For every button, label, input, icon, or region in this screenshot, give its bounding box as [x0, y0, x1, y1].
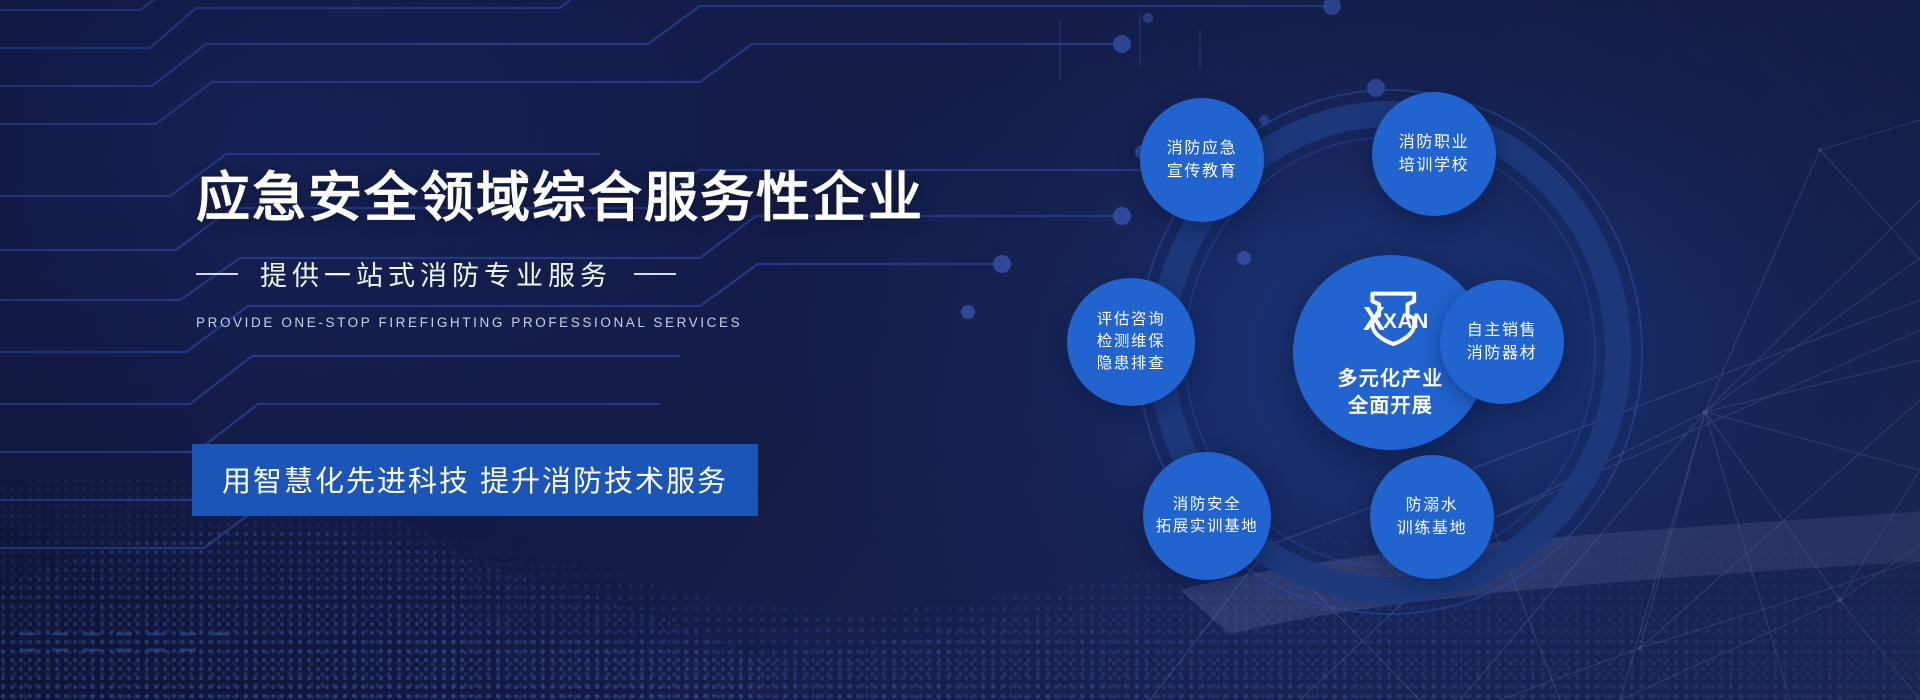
node-label-line-2: 宣传教育 [1167, 160, 1237, 183]
diagram-node-left[interactable]: 评估咨询 检测维保 隐患排查 [1067, 278, 1195, 406]
node-label-line-1: 自主销售 [1467, 319, 1537, 342]
node-label-line-2: 拓展实训基地 [1156, 516, 1259, 538]
cta-banner-label: 用智慧化先进科技 提升消防技术服务 [222, 466, 728, 498]
node-label-line-1: 消防职业 [1399, 131, 1469, 154]
subtitle-row: 提供一站式消防专业服务 [196, 254, 896, 293]
page-title: 应急安全领域综合服务性企业 [196, 168, 896, 228]
node-label-line-2: 消防器材 [1467, 342, 1537, 365]
rule-left-decoration [196, 273, 238, 275]
node-label-line-2: 培训学校 [1399, 154, 1469, 177]
logo-wordmark: XAN [1383, 310, 1428, 333]
xan-shield-logo: X XAN [1354, 286, 1428, 357]
node-label-line-2: 检测维保 [1097, 331, 1165, 353]
center-label-line-1: 多元化产业 [1338, 366, 1444, 393]
diagram-node-top-left[interactable]: 消防应急 宣传教育 [1140, 98, 1264, 222]
diagram-node-right[interactable]: 自主销售 消防器材 [1440, 280, 1564, 404]
cta-banner-button[interactable]: 用智慧化先进科技 提升消防技术服务 [192, 444, 758, 516]
center-label-line-2: 全面开展 [1348, 393, 1433, 420]
shield-icon: X XAN [1354, 286, 1428, 352]
diagram-node-bottom-right[interactable]: 防溺水 训练基地 [1370, 455, 1494, 579]
hero-banner: 应急安全领域综合服务性企业 提供一站式消防专业服务 PROVIDE ONE-ST… [0, 0, 1920, 700]
node-label-line-3: 隐患排查 [1097, 353, 1165, 375]
page-subtitle: 提供一站式消防专业服务 [260, 254, 612, 293]
diagram-node-top-right[interactable]: 消防职业 培训学校 [1372, 92, 1496, 216]
node-label-line-1: 消防安全 [1173, 494, 1241, 516]
english-subtitle: PROVIDE ONE-STOP FIREFIGHTING PROFESSION… [196, 315, 896, 330]
logo-mark-letter: X [1363, 300, 1385, 337]
node-label-line-1: 消防应急 [1167, 137, 1237, 160]
hero-text-block: 应急安全领域综合服务性企业 提供一站式消防专业服务 PROVIDE ONE-ST… [196, 168, 896, 330]
node-label-line-2: 训练基地 [1397, 517, 1467, 540]
node-label-line-1: 评估咨询 [1097, 309, 1165, 331]
rule-right-decoration [634, 273, 676, 275]
diagram-node-bottom-left[interactable]: 消防安全 拓展实训基地 [1143, 452, 1271, 580]
node-label-line-1: 防溺水 [1406, 494, 1459, 517]
service-wheel-diagram: X XAN 多元化产业 全面开展 消防应急 宣传教育 消防职业 培训学校 评估咨… [1085, 70, 1785, 630]
